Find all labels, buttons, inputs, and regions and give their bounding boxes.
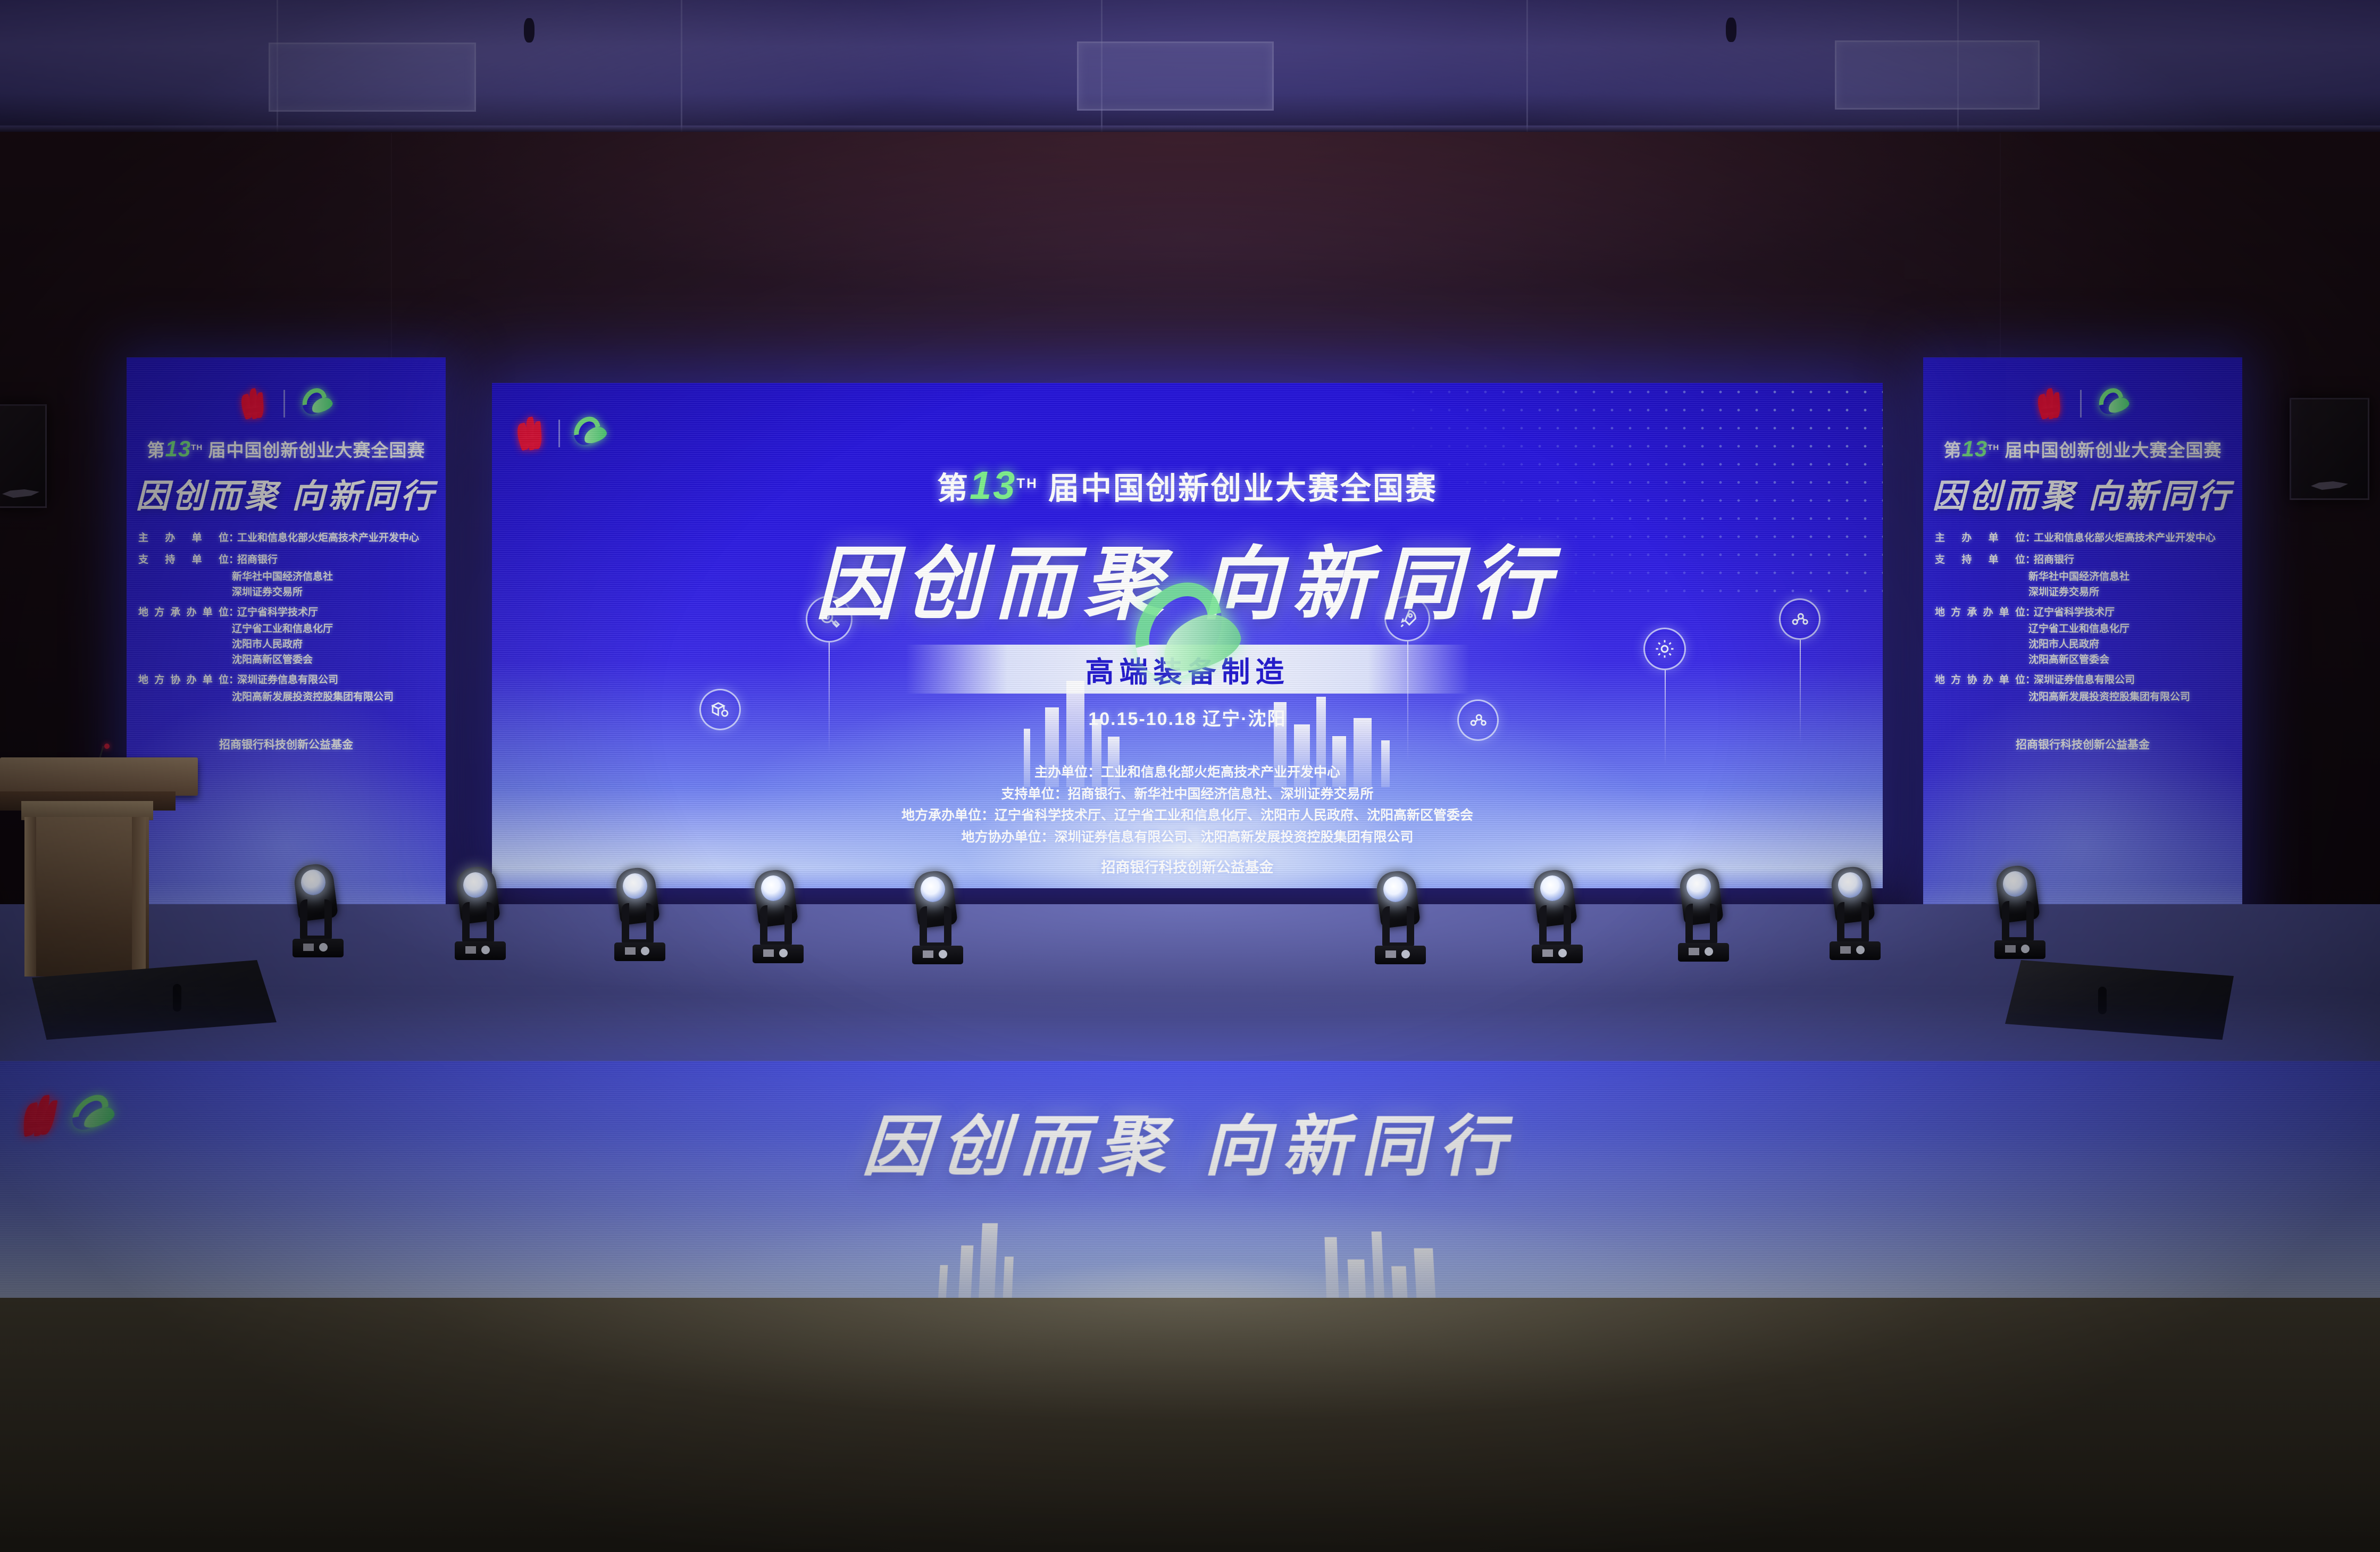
- credit-value: 招商银行: [237, 553, 434, 568]
- side-panel-fund: 招商银行科技创新公益基金: [1923, 736, 2242, 752]
- side-panel-title: 第13TH 届中国创新创业大赛全国赛: [127, 436, 446, 462]
- green-c-logo-icon: [302, 388, 332, 420]
- moving-head-light: [293, 864, 344, 957]
- foreground-floor-glow: [0, 1298, 2380, 1552]
- side-panel-slogan: 因创而聚 向新同行: [1923, 469, 2242, 517]
- side-panel-credits: 主办单位：工业和信息化部火炬高技术产业开发中心 支持单位：招商银行 新华社中国经…: [1923, 531, 2242, 705]
- credit-line: 支持单位：招商银行、新华社中国经济信息社、深圳证券交易所: [492, 783, 1883, 805]
- credit-value: 沈阳高新区管委会: [232, 653, 434, 668]
- credit-line: 地方协办单位：深圳证券信息有限公司、沈阳高新发展投资控股集团有限公司: [492, 827, 1883, 848]
- ceiling-vent: [1726, 18, 1736, 42]
- credit-label: 地方承办单位: [1935, 605, 2025, 621]
- ceiling-panel: [1835, 40, 2040, 110]
- credit-value: 深圳证券交易所: [232, 585, 434, 600]
- side-logo-group-right: [1923, 385, 2242, 422]
- green-c-logo-icon: [2099, 388, 2129, 420]
- ceiling-panel: [1077, 41, 1274, 111]
- side-panel-slogan: 因创而聚 向新同行: [127, 469, 446, 517]
- lectern-podium: [0, 746, 213, 980]
- credit-value: 新华社中国经济信息社: [2028, 570, 2231, 585]
- credit-value: 深圳证券信息有限公司: [237, 673, 434, 688]
- green-c-logo-icon: [574, 416, 607, 451]
- main-led-screen: 第13TH 届中国创新创业大赛全国赛 因创而聚 向新同行 高端装备制造 10.1…: [492, 383, 1883, 888]
- front-strip-slogan: 因创而聚 向新同行: [0, 1093, 2380, 1189]
- credit-value: 辽宁省科学技术厅: [237, 605, 434, 621]
- credit-value: 沈阳高新发展投资控股集团有限公司: [2028, 690, 2231, 705]
- moving-head-light: [753, 870, 804, 963]
- front-led-strip: 因创而聚 向新同行: [0, 1061, 2380, 1316]
- credit-value: 沈阳高新区管委会: [2028, 653, 2231, 668]
- main-screen-credits: 主办单位：工业和信息化部火炬高技术产业开发中心 支持单位：招商银行、新华社中国经…: [492, 762, 1883, 880]
- credit-value: 深圳证券信息有限公司: [2034, 673, 2231, 688]
- credit-label: 地方承办单位: [138, 605, 229, 621]
- credit-value: 辽宁省工业和信息化厅: [2028, 622, 2231, 637]
- credit-value: 辽宁省科学技术厅: [2034, 605, 2231, 621]
- side-panel-title: 第13TH 届中国创新创业大赛全国赛: [1923, 436, 2242, 462]
- main-screen-fund: 招商银行科技创新公益基金: [492, 856, 1883, 880]
- moving-head-light: [1994, 866, 2045, 959]
- credit-value: 沈阳市人民政府: [2028, 637, 2231, 653]
- credit-value: 沈阳市人民政府: [232, 637, 434, 653]
- ceiling-vent: [524, 18, 535, 43]
- credit-value: 招商银行: [2034, 553, 2231, 568]
- logo-divider: [283, 390, 285, 418]
- main-screen-title: 第13TH 届中国创新创业大赛全国赛: [492, 463, 1883, 508]
- speaker-brand-badge: [2311, 481, 2348, 490]
- side-panel-credits: 主办单位：工业和信息化部火炬高技术产业开发中心 支持单位：招商银行 新华社中国经…: [127, 531, 446, 705]
- wall-speaker-right: [2290, 398, 2369, 500]
- moving-head-light: [1830, 867, 1881, 960]
- credit-label: 主办单位: [1935, 531, 2025, 546]
- ceiling-panel: [269, 43, 476, 112]
- moving-head-light: [1678, 869, 1729, 962]
- credit-label: 地方协办单位: [1935, 673, 2025, 688]
- logo-divider: [2080, 390, 2082, 418]
- green-c-logo-icon: [1134, 580, 1241, 702]
- side-logo-group-left: [127, 385, 446, 422]
- moving-head-light: [1375, 871, 1426, 964]
- speaker-brand-badge: [2, 489, 39, 498]
- credit-value: 工业和信息化部火炬高技术产业开发中心: [2034, 531, 2231, 546]
- credit-label: 支持单位: [1935, 553, 2025, 568]
- credit-label: 地方协办单位: [138, 673, 229, 688]
- torch-flame-icon: [516, 415, 545, 452]
- logo-divider: [558, 420, 560, 447]
- credit-line: 地方承办单位：辽宁省科学技术厅、辽宁省工业和信息化厅、沈阳市人民政府、沈阳高新区…: [492, 805, 1883, 827]
- credit-value: 深圳证券交易所: [2028, 585, 2231, 600]
- stage-scene: 第13TH 届中国创新创业大赛全国赛 因创而聚 向新同行 主办单位：工业和信息化…: [0, 0, 2380, 1552]
- credit-line: 主办单位：工业和信息化部火炬高技术产业开发中心: [492, 762, 1883, 783]
- microphone-indicator-icon: [104, 744, 110, 749]
- credit-label: 支持单位: [138, 553, 229, 568]
- torch-flame-icon: [2036, 387, 2063, 421]
- main-logo-group: [516, 415, 607, 452]
- credit-value: 沈阳高新发展投资控股集团有限公司: [232, 690, 434, 705]
- ceiling: [0, 0, 2380, 133]
- side-led-panel-right: 第13TH 届中国创新创业大赛全国赛 因创而聚 向新同行 主办单位：工业和信息化…: [1923, 357, 2242, 927]
- torch-flame-icon: [240, 387, 266, 421]
- wall-speaker-left: [0, 404, 47, 508]
- moving-head-light: [614, 868, 665, 961]
- moving-head-light: [455, 867, 506, 960]
- credit-label: 主办单位: [138, 531, 229, 546]
- credit-value: 辽宁省工业和信息化厅: [232, 622, 434, 637]
- moving-head-light: [1532, 870, 1583, 963]
- credit-value: 工业和信息化部火炬高技术产业开发中心: [237, 531, 434, 546]
- moving-head-light: [912, 871, 963, 964]
- credit-value: 新华社中国经济信息社: [232, 570, 434, 585]
